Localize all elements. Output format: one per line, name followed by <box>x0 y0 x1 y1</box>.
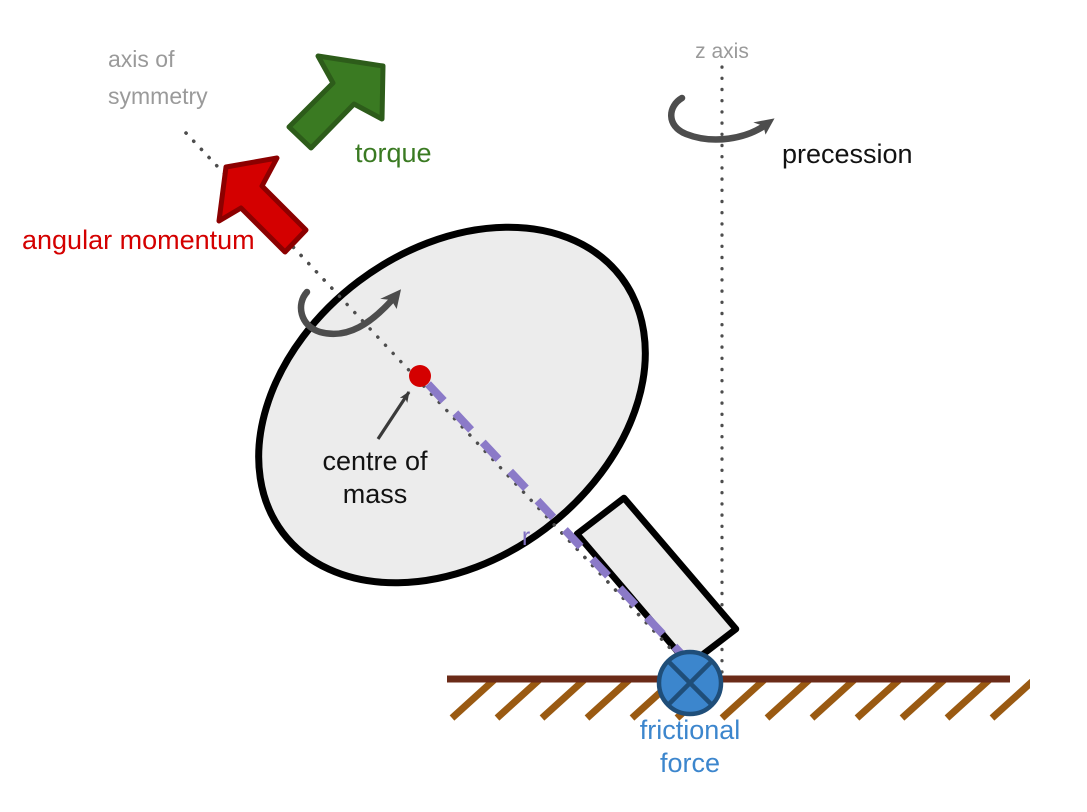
precession-label: precession <box>782 139 913 169</box>
torque-arrow-icon <box>289 56 383 148</box>
precession-group: precession <box>671 98 912 169</box>
precession-arrow-icon <box>671 98 764 139</box>
z-axis-label: z axis <box>695 40 749 63</box>
frictional-force-label-line2: force <box>660 748 720 778</box>
centre-of-mass-label-line1: centre of <box>322 446 428 476</box>
axis-of-symmetry-label-line1: axis of <box>108 46 175 72</box>
centre-of-mass-label-line2: mass <box>343 479 408 509</box>
torque-group: torque <box>289 56 432 168</box>
angular-momentum-label: angular momentum <box>22 225 255 255</box>
top-stem <box>577 498 736 665</box>
angular-momentum-group: angular momentum <box>22 158 306 255</box>
axis-of-symmetry-label-line2: symmetry <box>108 83 208 109</box>
torque-label: torque <box>355 138 432 168</box>
radius-label: r <box>522 523 530 551</box>
ground-group <box>447 679 1035 718</box>
frictional-force-group: frictional force <box>640 652 741 778</box>
stem-body <box>577 498 736 665</box>
ground-hatching <box>452 679 1035 718</box>
frictional-force-label-line1: frictional <box>640 715 741 745</box>
physics-diagram-svg: z axis precession axis of symmetry <box>0 0 1087 812</box>
diagram-canvas: z axis precession axis of symmetry <box>0 0 1087 812</box>
centre-of-mass-dot <box>409 365 431 387</box>
